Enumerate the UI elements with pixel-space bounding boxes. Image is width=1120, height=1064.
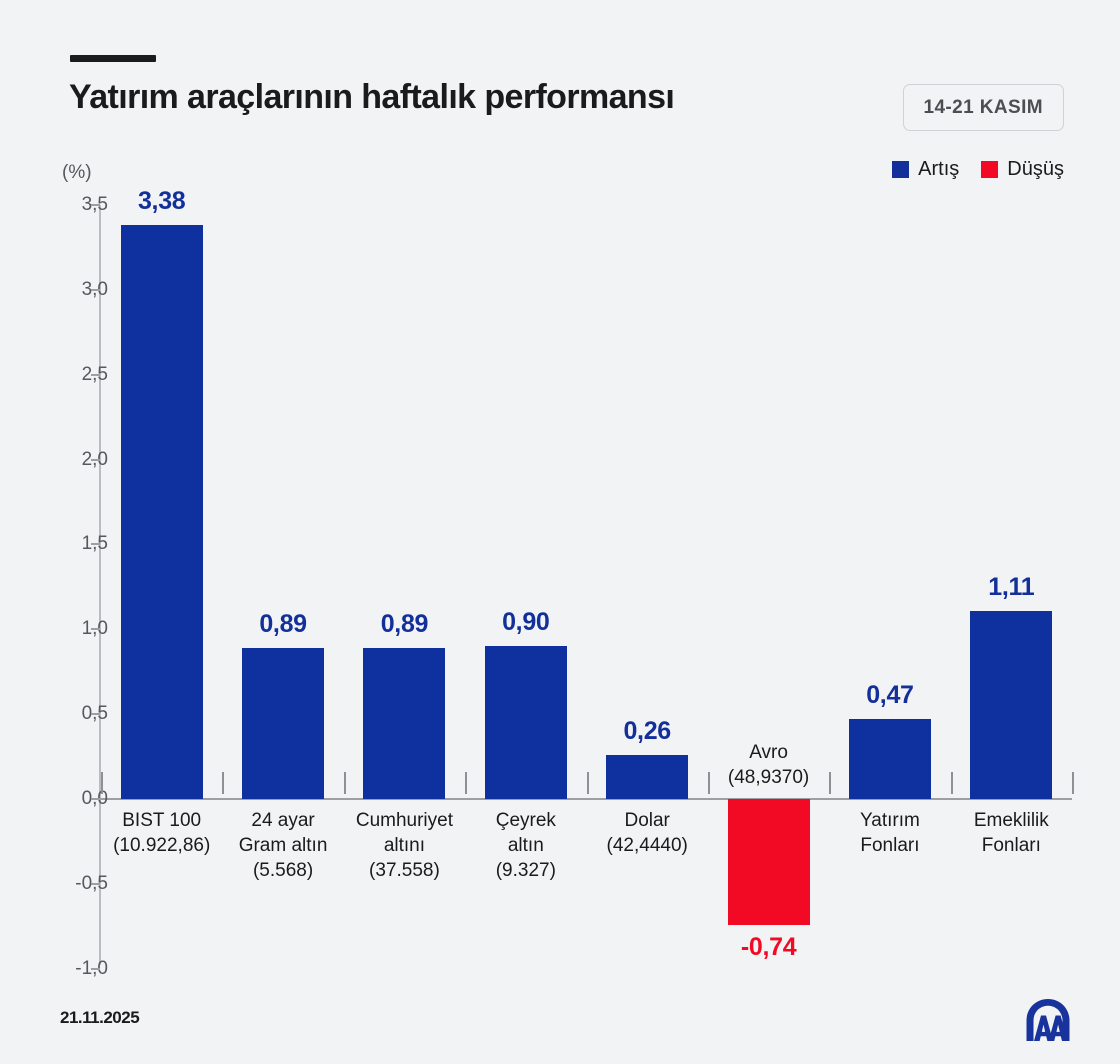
category-label-line: Emeklilik (926, 808, 1096, 833)
bar-1[interactable] (121, 225, 203, 799)
y-axis-tick-mark (91, 374, 100, 376)
y-axis-tick-mark (91, 798, 100, 800)
bar-4[interactable] (485, 646, 567, 799)
y-axis-tick-mark (91, 459, 100, 461)
aa-logo-icon (1022, 996, 1074, 1044)
y-axis-tick-mark (91, 883, 100, 885)
x-axis-separator-tick (951, 772, 953, 794)
category-label-line: Fonları (926, 833, 1096, 858)
x-axis-category-label: EmeklilikFonları (926, 808, 1096, 858)
y-axis-tick-mark (91, 289, 100, 291)
bar-value-label: 0,90 (446, 608, 606, 637)
bar-6[interactable] (728, 799, 810, 925)
bar-3[interactable] (363, 648, 445, 799)
bar-8[interactable] (970, 611, 1052, 799)
bar-value-label: 1,11 (931, 573, 1091, 602)
y-axis-tick-mark (91, 543, 100, 545)
x-axis-separator-tick (465, 772, 467, 794)
category-label-line: Dolar (562, 808, 732, 833)
bar-5[interactable] (606, 755, 688, 799)
y-axis-tick-mark (91, 713, 100, 715)
x-axis-category-label: Dolar(42,4440) (562, 808, 732, 858)
x-axis-separator-tick (222, 772, 224, 794)
publication-date: 21.11.2025 (60, 1008, 139, 1028)
chart-plot-area: 3,53,02,52,01,51,00,50,0-0,5-1,0 3,38BIS… (0, 0, 1120, 1064)
bar-value-label: 0,47 (810, 681, 970, 710)
bar-value-label: -0,74 (689, 933, 849, 962)
x-axis-separator-tick (101, 772, 103, 794)
x-axis-separator-tick (829, 772, 831, 794)
category-label-line: (9.327) (441, 858, 611, 883)
y-axis-tick-mark (91, 968, 100, 970)
x-axis-separator-tick (344, 772, 346, 794)
y-axis-tick-mark (91, 628, 100, 630)
category-label-line: (42,4440) (562, 833, 732, 858)
bar-value-label: 3,38 (82, 187, 242, 216)
x-axis-separator-tick (587, 772, 589, 794)
bar-7[interactable] (849, 719, 931, 799)
bar-2[interactable] (242, 648, 324, 799)
x-axis-separator-tick (1072, 772, 1074, 794)
category-label-line: Avro (684, 740, 854, 765)
